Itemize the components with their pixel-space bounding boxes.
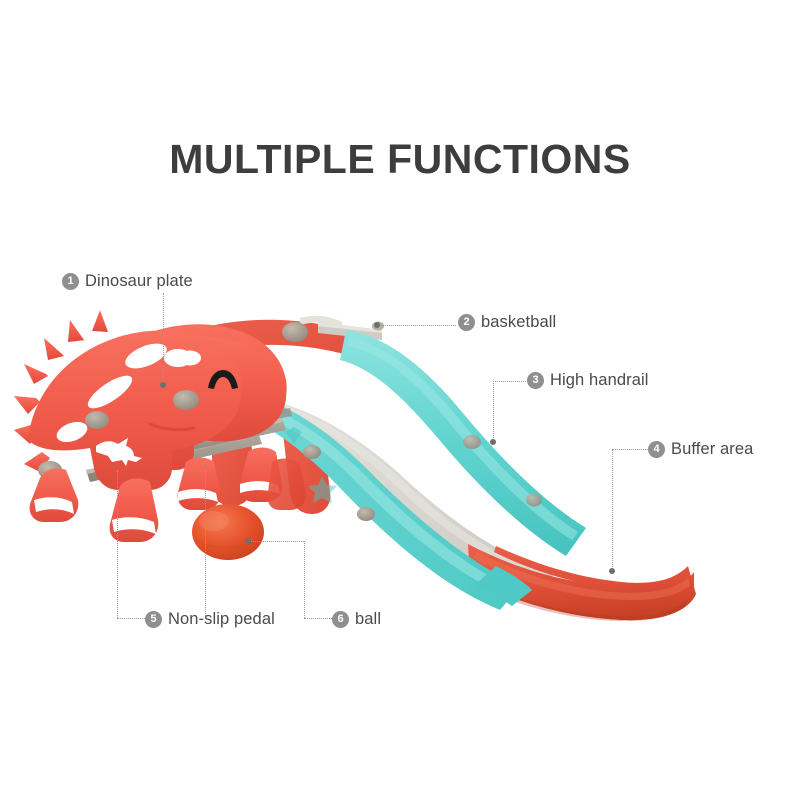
callout-label-3: High handrail xyxy=(550,371,649,390)
leader-line-6-horizontal xyxy=(248,541,304,542)
handrail-foot xyxy=(476,566,532,606)
leader-line-3-vertical xyxy=(493,381,494,442)
leader-dot-4 xyxy=(609,568,615,574)
callout-4-buffer-area[interactable]: 4 Buffer area xyxy=(648,440,753,459)
slide-surface xyxy=(252,398,556,596)
leader-line-4-horizontal xyxy=(612,449,648,450)
dino-nostril xyxy=(179,351,201,366)
leader-line-6-connector xyxy=(304,618,332,619)
callout-5-non-slip-pedal[interactable]: 5 Non-slip pedal xyxy=(145,610,275,629)
leader-line-5-horizontal xyxy=(117,618,145,619)
infographic-canvas: MULTIPLE FUNCTIONS xyxy=(0,0,800,800)
callout-label-2: basketball xyxy=(481,313,556,332)
product-illustration xyxy=(0,0,800,800)
callout-badge-5: 5 xyxy=(145,611,162,628)
high-handrail-far xyxy=(340,330,586,556)
callout-badge-3: 3 xyxy=(527,372,544,389)
callout-1-dinosaur-plate[interactable]: 1 Dinosaur plate xyxy=(62,272,193,291)
callout-3-high-handrail[interactable]: 3 High handrail xyxy=(527,371,649,390)
leader-line-6-vertical xyxy=(304,541,305,618)
dinosaur-plate-back xyxy=(150,320,395,514)
callout-badge-4: 4 xyxy=(648,441,665,458)
dino-eye xyxy=(208,370,238,389)
callout-badge-2: 2 xyxy=(458,314,475,331)
callout-badge-6: 6 xyxy=(332,611,349,628)
leader-line-2 xyxy=(378,325,456,326)
dinosaur-plate xyxy=(14,310,308,542)
callout-label-5: Non-slip pedal xyxy=(168,610,275,629)
high-handrail-near xyxy=(220,389,520,610)
callout-badge-1: 1 xyxy=(62,273,79,290)
leader-dot-3 xyxy=(490,439,496,445)
callout-2-basketball[interactable]: 2 basketball xyxy=(458,313,556,332)
leader-line-5-branch xyxy=(205,470,206,618)
leader-dot-1 xyxy=(160,382,166,388)
callout-6-ball[interactable]: 6 ball xyxy=(332,610,381,629)
leader-dot-2 xyxy=(374,322,380,328)
buffer-area xyxy=(468,544,696,621)
leader-dot-6 xyxy=(245,538,251,544)
callout-label-4: Buffer area xyxy=(671,440,753,459)
page-title: MULTIPLE FUNCTIONS xyxy=(0,136,800,183)
leader-line-4-vertical xyxy=(612,449,613,571)
leader-line-1 xyxy=(163,293,164,385)
ball xyxy=(192,504,264,560)
callout-label-1: Dinosaur plate xyxy=(85,272,193,291)
leader-line-5-vertical xyxy=(117,470,118,618)
callout-label-6: ball xyxy=(355,610,381,629)
leader-line-3-horizontal xyxy=(493,381,526,382)
basketball-hoop xyxy=(300,316,384,340)
